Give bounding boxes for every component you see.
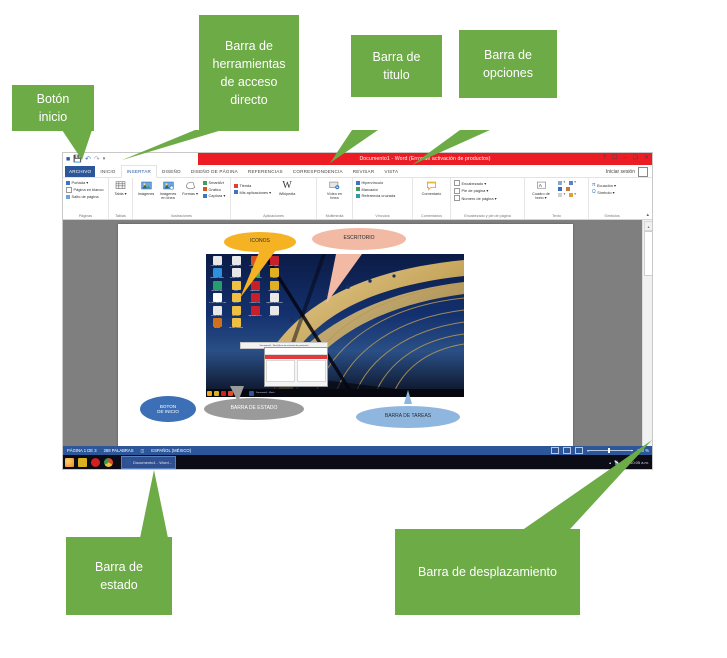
callout-barra-desplazamiento: Barra de desplazamiento [395, 529, 580, 615]
callout-boton-inicio: Botón inicio [12, 85, 94, 131]
annotated-word-screenshot: Botón inicio Barra de herramientas de ac… [0, 0, 727, 658]
callout-barra-estado: Barra de estado [66, 537, 172, 615]
callout-barra-opciones: Barra de opciones [459, 30, 557, 98]
callout-barra-herramientas: Barra de herramientas de acceso directo [199, 15, 299, 131]
callout-barra-titulo: Barra de titulo [351, 35, 442, 97]
